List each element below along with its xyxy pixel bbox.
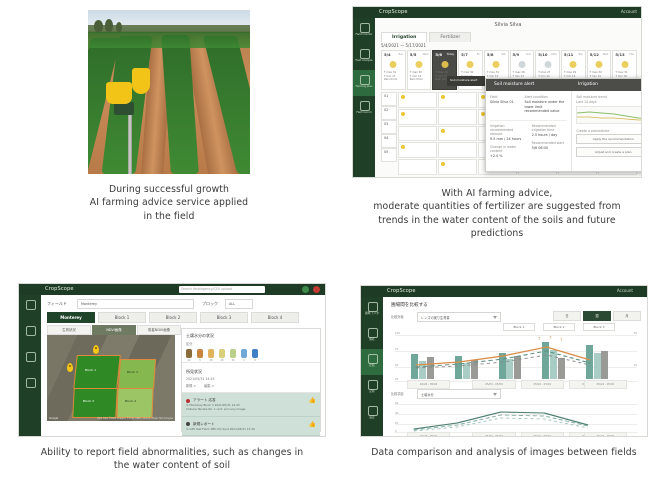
moisture-level-icon: 5 <box>197 349 203 358</box>
sidebar-item-settings[interactable] <box>19 373 41 399</box>
sidebar-item-label: Field record <box>354 111 374 114</box>
tab-block-4[interactable]: Block 4 <box>251 312 299 323</box>
day-date: 5/12 <box>590 52 599 57</box>
alert-condition-value: Soil moisture under the lower limit reco… <box>525 100 568 114</box>
map-plot-block-3[interactable] <box>72 388 118 418</box>
day-name: Tue <box>398 53 402 56</box>
tab-fertilizer[interactable]: Fertilizer <box>429 32 471 42</box>
row-header-label: 02 <box>381 106 397 120</box>
map-footer: Map data ©2021 Imagery ©2021 CNES / Airb… <box>98 417 173 420</box>
x-axis-label: 05/10 - 05/16 <box>521 432 564 437</box>
weather-sun-icon <box>570 61 577 68</box>
panel-field-photo: During successful growth AI farming advi… <box>88 10 250 223</box>
sidebar-item-field-monitor[interactable]: Field monitor <box>353 18 375 44</box>
sidebar-item-label: 圃場 モニタ <box>362 312 382 315</box>
day-date: 5/4 <box>384 52 391 57</box>
clipboard-icon <box>368 380 378 390</box>
sidebar-item-label: 解析 <box>362 338 382 341</box>
plan-cell[interactable] <box>398 109 437 125</box>
plan-cell[interactable] <box>398 142 437 158</box>
moisture-level-value: 5 <box>252 359 258 362</box>
record-title: 所見状況 <box>186 369 316 375</box>
notification-icon[interactable] <box>313 286 320 293</box>
app-brand: CropScope <box>379 9 408 15</box>
legend-chips: Block 1 Block 2 Block 3 <box>503 323 615 331</box>
row-header-label: 04 <box>381 134 397 148</box>
day-name: Sat <box>501 53 505 56</box>
day-date: 5/10 <box>538 52 547 57</box>
sidebar: Field monitor Field analysis Farming pla… <box>353 18 375 177</box>
legend-chip[interactable]: Block 1 <box>503 323 535 331</box>
soil-moisture-sparkline <box>576 106 642 124</box>
moisture-level-value: 15 <box>208 359 214 362</box>
map-plot-label: Block 2 <box>127 370 138 374</box>
legend-chip[interactable]: Block 2 <box>543 323 575 331</box>
account-label[interactable]: Account <box>621 9 637 14</box>
plan-cell[interactable] <box>438 159 477 175</box>
field-report-screenshot: CropScope Search field/agency/CSV upload <box>18 283 326 437</box>
page-title: 圃場間を比較する <box>391 302 428 308</box>
app-topbar: CropScope Search field/agency/CSV upload <box>19 284 325 295</box>
range-day-button[interactable]: 日 <box>553 311 581 321</box>
record-new-action[interactable]: 新規 > <box>186 383 196 388</box>
rain-gauge-cup <box>106 82 132 104</box>
gear-icon <box>368 406 378 416</box>
tab-monterey[interactable]: Monterey <box>47 312 95 323</box>
main-content: Silvia Silva Irrigation Fertilizer 5/4/2… <box>375 18 641 177</box>
data-comparison-screenshot: CropScope Account 圃場 モニタ 解析 比較 <box>360 285 648 437</box>
field-select-value: Monterey <box>81 302 97 306</box>
modal-header: Soil moisture alert Irrigation <box>486 79 642 91</box>
day-name: Thu <box>629 53 634 56</box>
weather-sun-icon <box>416 61 423 68</box>
day-name: Tue <box>578 53 582 56</box>
sidebar-item-field-analysis[interactable]: Field analysis <box>353 44 375 70</box>
tab-irrigation[interactable]: Irrigation <box>381 32 427 42</box>
recommended-start-label: Recommended start <box>532 141 568 145</box>
report-panel: 土壌水分の状況 区分 10 5 15 <box>181 328 321 432</box>
moisture-level-value: 25 <box>219 359 225 362</box>
sidebar <box>19 295 41 436</box>
app-brand: CropScope <box>387 288 416 294</box>
map-plot-block-2[interactable] <box>118 359 156 389</box>
y-axis-tick: 40 <box>395 412 398 415</box>
second-select-value: 土壌水分 <box>421 392 434 397</box>
panel-caption: Data comparison and analysis of images b… <box>360 446 648 459</box>
panel-caption: With AI farming advice, moderate quantit… <box>352 187 642 241</box>
record-status-card: 所見状況 2021/05/31 14:25 新規 > 編集 > <box>182 363 320 393</box>
day-date: 5/9 <box>513 52 520 57</box>
sidebar-item-farming-plan[interactable]: Farming plan <box>353 70 375 96</box>
x-axis-label: 05/03 - 05/09 <box>472 432 515 437</box>
day-note: T max 31 T min 15 Rain 0mm <box>384 71 403 82</box>
block-tab-bar: Monterey Block 1 Block 2 Block 3 Block 4 <box>47 312 299 323</box>
app-brand: CropScope <box>45 286 74 292</box>
app-topbar: CropScope Account <box>353 7 641 18</box>
moisture-change-value: +2.0 % <box>490 154 526 159</box>
map-pin-icon[interactable] <box>93 345 99 354</box>
field-map[interactable]: Block 1 Block 2 Block 3 Block 4 Google M… <box>47 335 175 421</box>
tree-icon <box>94 20 103 32</box>
main-content: フィールド Monterey ブロック ALL Monterey Block 1… <box>41 295 325 436</box>
sidebar-item-analysis[interactable] <box>19 321 41 347</box>
moisture-level-value: 5 <box>197 359 203 362</box>
plan-cell[interactable] <box>398 92 437 108</box>
tab-block-2[interactable]: Block 2 <box>149 312 197 323</box>
image-type-tabs: 生育状況 NDVI画像 衛星NDVI画像 <box>47 325 181 335</box>
range-week-button[interactable]: 週 <box>583 311 611 321</box>
chevron-down-icon <box>493 316 497 319</box>
sidebar-item-settings[interactable]: 設定 <box>361 401 383 427</box>
moisture-level-icon: 10 <box>186 349 192 358</box>
block-select[interactable]: ALL <box>225 299 253 309</box>
moisture-icon-row: 10 5 15 25 34 <box>186 349 316 358</box>
app-topbar: CropScope Account <box>361 286 647 297</box>
moisture-level-icon: 34 <box>230 349 236 358</box>
moisture-level-value: 10 <box>186 359 192 362</box>
row-header-label: 03 <box>381 120 397 134</box>
modal-left-column: Field Silvia Silva 01 Alert condition So… <box>486 91 572 171</box>
tab-block-1[interactable]: Block 1 <box>98 312 146 323</box>
gear-icon <box>26 378 36 388</box>
message-line: ① GPS Test Field: NEC HQ Sent 2021/05/31… <box>186 428 316 432</box>
plan-cell[interactable] <box>398 126 437 142</box>
moisture-level-value: 34 <box>230 359 236 362</box>
alert-dot-icon <box>441 162 445 166</box>
y-axis-tick: 0 <box>395 430 397 433</box>
day-date: 5/6 <box>435 52 442 57</box>
alert-icon <box>186 399 190 403</box>
map-plot-label: Block 1 <box>85 368 96 372</box>
recommended-start-value: 5/6 06:00 <box>532 146 568 151</box>
modal-body: Field Silvia Silva 01 Alert condition So… <box>486 91 642 171</box>
gauge-icon <box>368 302 378 312</box>
y-axis-tick: 50 <box>395 402 398 405</box>
field-filter-label: フィールド <box>47 301 67 307</box>
trend-lines-svg <box>407 331 625 379</box>
avatar[interactable] <box>302 286 309 293</box>
modal-title-right: Irrigation <box>570 79 642 91</box>
search-input[interactable]: Search field/agency/CSV upload <box>179 286 265 293</box>
y-axis-tick: 25 <box>395 378 398 381</box>
alert-dot-icon <box>441 95 445 99</box>
compare-select[interactable]: レンズの実り生育量 <box>417 312 501 322</box>
map-plot-block-4[interactable] <box>116 388 153 418</box>
message-title: 新規レポート <box>193 422 215 427</box>
field-row-headers: 01 02 03 04 05 <box>381 92 397 175</box>
field-label: Field <box>490 95 519 99</box>
sidebar-item-compare[interactable]: 比較 <box>361 349 383 375</box>
day-name: Wed <box>423 53 429 56</box>
date-range: 5/4/2021 — 5/17/2021 <box>381 43 426 48</box>
sidebar-item-report[interactable] <box>19 347 41 373</box>
calendar-day[interactable]: 5/5 Wed T max 30 T min 14 Rain 0mm <box>407 50 432 90</box>
moisture-title: 土壌水分の状況 <box>186 333 316 339</box>
irrigation-amount-label: Irrigation recommended amount <box>490 124 526 136</box>
rain-gauge-cup <box>132 68 150 94</box>
day-date: 5/13 <box>615 52 624 57</box>
main-content: 圃場間を比較する 比較対象 レンズの実り生育量 日 週 月 Block 1 Bl… <box>383 297 647 436</box>
moisture-line-chart: 50 40 20 0 04/26 - 05/02 05/03 - 05/09 0… <box>395 401 637 437</box>
x-axis-label: 04/26 - 05/02 <box>407 432 450 437</box>
irrigation-amount-value: 9.5 mm / 24 hours <box>490 137 526 142</box>
tree-icon <box>116 22 122 32</box>
message-line: Chikara Tanabe No. 1 unit: soil very ima… <box>186 408 316 412</box>
figure-sheet: During successful growth AI farming advi… <box>0 0 650 479</box>
block-filter-label: ブロック <box>202 301 218 307</box>
moisture-status-card: 土壌水分の状況 区分 10 5 15 <box>182 329 320 363</box>
weather-cloud-icon <box>518 61 525 68</box>
moisture-level-value: 1 <box>241 359 247 362</box>
modal-title-left: Soil moisture alert <box>486 79 570 91</box>
x-axis-label: 05/10 - 05/16 <box>521 380 564 389</box>
sidebar-item-label: Field analysis <box>354 59 374 62</box>
plan-column <box>398 92 437 175</box>
x-axis-label: 04/26 - 05/02 <box>407 380 450 389</box>
moisture-level-icon: 25 <box>219 349 225 358</box>
alert-dot-icon <box>401 112 405 116</box>
account-label[interactable]: Account <box>617 288 633 293</box>
compare-icon <box>368 354 378 364</box>
clipboard-icon <box>360 101 370 111</box>
chart-icon <box>26 326 36 336</box>
day-name: Fri <box>477 53 480 56</box>
alert-dot-icon <box>401 95 405 99</box>
panel-caption: Ability to report field abnormalities, s… <box>18 446 326 473</box>
sidebar-item-field-record[interactable]: Field record <box>353 96 375 122</box>
tab-satellite-ndvi[interactable]: 衛星NDVI画像 <box>137 325 181 335</box>
panel-field-report: CropScope Search field/agency/CSV upload <box>18 283 326 473</box>
compare-select-value: レンズの実り生育量 <box>421 315 450 320</box>
field-select[interactable]: Monterey <box>77 299 194 309</box>
sidebar-item-label: 記録 <box>362 390 382 393</box>
trend-title: Soil moisture trend <box>576 95 642 99</box>
sidebar-item-label: Farming plan <box>354 85 374 88</box>
annotation-arrow-icon: ↑ <box>538 336 541 341</box>
weather-sun-icon <box>390 61 397 68</box>
day-note: T max 30 T min 14 Rain 0mm <box>410 71 429 82</box>
panel-ai-advice: CropScope Account Field monitor Field an… <box>352 6 642 241</box>
map-plot-block-1[interactable] <box>73 355 121 389</box>
search-placeholder: Search field/agency/CSV upload <box>181 287 232 291</box>
second-select-label: 比較項目 <box>391 391 404 396</box>
sidebar: 圃場 モニタ 解析 比較 記録 設定 <box>361 297 383 436</box>
sidebar-item-monitor[interactable] <box>19 295 41 321</box>
alert-chip[interactable]: Soil moisture alert <box>447 76 485 86</box>
irrigation-time-value: 2.5 hours / day <box>532 133 568 138</box>
chart-icon <box>360 49 370 59</box>
alert-condition-label: Alert condition <box>525 95 568 99</box>
message-new-report[interactable]: 新規レポート 👍 ① GPS Test Field: NEC HQ Sent 2… <box>182 417 320 437</box>
moisture-level-icon: 5 <box>252 349 258 358</box>
plan-cell[interactable] <box>398 159 437 175</box>
tree-icon <box>105 19 113 32</box>
range-month-button[interactable]: 月 <box>613 311 641 321</box>
weather-sun-icon <box>595 61 602 68</box>
sidebar-item-label: 比較 <box>362 364 382 367</box>
filter-bar: フィールド Monterey ブロック ALL <box>47 299 319 308</box>
clipboard-icon <box>26 352 36 362</box>
annotation-arrow-icon: ↑ <box>560 337 563 342</box>
actions-title: Create a plan/advice <box>576 129 642 133</box>
thumbs-up-icon[interactable]: 👍 <box>309 421 316 428</box>
moisture-lines-svg <box>405 403 623 433</box>
weather-sun-icon <box>621 61 628 68</box>
moisture-level-icon: 15 <box>208 349 214 358</box>
compare-select-label: 比較対象 <box>391 314 404 319</box>
annotation-arrow-icon: ↑ <box>549 335 552 340</box>
page-title: Silvia Silva <box>495 22 522 28</box>
y-axis-tick: 75 <box>395 348 398 351</box>
map-plot-label: Block 4 <box>125 399 136 403</box>
day-date: 5/11 <box>564 52 573 57</box>
day-date: 5/7 <box>461 52 468 57</box>
ai-advice-screenshot: CropScope Account Field monitor Field an… <box>352 6 642 178</box>
row-header-label: 01 <box>381 92 397 106</box>
crop-row-far <box>88 32 250 48</box>
gauge-icon <box>26 300 36 310</box>
tab-ndvi-image[interactable]: NDVI画像 <box>92 325 136 335</box>
y-axis-tick-right: 25 <box>634 364 637 367</box>
apply-recommendation-button[interactable]: Apply the recommendation <box>576 134 642 144</box>
chevron-down-icon <box>493 393 497 396</box>
plan-cell[interactable] <box>438 126 477 142</box>
day-name: Mon <box>551 53 556 56</box>
adjust-plan-button[interactable]: Adjust and create a plan <box>576 147 642 157</box>
plan-cell[interactable] <box>438 92 477 108</box>
thumbs-up-icon[interactable]: 👍 <box>309 397 316 404</box>
day-date: 5/8 <box>487 52 494 57</box>
soil-moisture-alert-modal: Soil moisture alert Irrigation Field Sil… <box>485 78 642 172</box>
sidebar-item-label: Field monitor <box>354 33 374 36</box>
calendar-icon <box>360 75 370 85</box>
sidebar-item-label: 設定 <box>362 416 382 419</box>
day-name: Wed <box>603 53 609 56</box>
moisture-change-label: Change in water content <box>490 145 526 153</box>
x-axis-label: 05/24 - 05/30 <box>584 432 627 437</box>
panel-data-comparison: CropScope Account 圃場 モニタ 解析 比較 <box>360 285 648 459</box>
record-edit-action[interactable]: 編集 > <box>204 383 214 388</box>
chart-icon <box>368 328 378 338</box>
map-plot-label: Block 3 <box>83 399 94 403</box>
field-value: Silvia Silva 01 <box>490 100 519 105</box>
y-axis-tick: 50 <box>395 364 398 367</box>
comparison-bar-chart: 100 75 50 25 50 25 <box>395 331 637 389</box>
legend-chip[interactable]: Block 3 <box>583 323 615 331</box>
day-badge: Today <box>447 53 455 56</box>
tab-growth-status[interactable]: 生育状況 <box>47 325 91 335</box>
sparkline-svg <box>577 107 642 123</box>
x-axis-label: 05/03 - 05/09 <box>472 380 515 389</box>
tab-block-3[interactable]: Block 3 <box>200 312 248 323</box>
record-date: 2021/05/31 14:25 <box>186 377 316 381</box>
sensor-post <box>128 112 132 174</box>
day-name: Sun <box>526 53 531 56</box>
irrigation-time-label: Recommended irrigation time <box>532 124 568 132</box>
field-photograph <box>88 10 250 174</box>
calendar-day[interactable]: 5/4 Tue T max 31 T min 15 Rain 0mm <box>381 50 406 90</box>
row-header-label: 05 <box>381 148 397 162</box>
plan-cell[interactable] <box>438 142 477 158</box>
sidebar-item-monitor[interactable]: 圃場 モニタ <box>361 297 383 323</box>
sidebar-item-analysis[interactable]: 解析 <box>361 323 383 349</box>
y-axis-tick-right: 50 <box>634 332 637 335</box>
second-select[interactable]: 土壌水分 <box>417 389 501 399</box>
trend-subtitle: Last 14 days <box>576 100 642 104</box>
weather-sun-icon <box>441 61 448 68</box>
weather-sun-icon <box>467 61 474 68</box>
alert-dot-icon <box>401 145 405 149</box>
sidebar-item-record[interactable]: 記録 <box>361 375 383 401</box>
plan-cell[interactable] <box>438 109 477 125</box>
moisture-level-icon: 1 <box>241 349 247 358</box>
plan-column <box>438 92 477 175</box>
alert-dot-icon <box>441 129 445 133</box>
y-axis-tick: 20 <box>395 422 398 425</box>
modal-right-column: Soil moisture trend Last 14 days Create … <box>572 91 642 171</box>
tab-bar: Irrigation Fertilizer <box>381 32 471 42</box>
block-select-value: ALL <box>229 302 235 306</box>
view-range-buttons: 日 週 月 <box>553 311 641 321</box>
weather-sun-icon <box>493 61 500 68</box>
gauge-icon <box>360 23 370 33</box>
map-attribution: Google <box>49 417 58 420</box>
message-alert-response[interactable]: アラート 応答 👍 ① Monterey Block 3 2021/05/31 … <box>182 393 320 417</box>
x-axis-label: 05/24 - 05/30 <box>584 380 627 389</box>
report-icon <box>186 422 190 426</box>
map-pin-icon[interactable] <box>67 363 73 372</box>
moisture-subtitle: 区分 <box>186 341 316 346</box>
panel-caption: During successful growth AI farming advi… <box>88 183 250 223</box>
day-date: 5/5 <box>410 52 417 57</box>
weather-cloud-icon <box>544 61 551 68</box>
y-axis-tick: 100 <box>395 332 400 335</box>
